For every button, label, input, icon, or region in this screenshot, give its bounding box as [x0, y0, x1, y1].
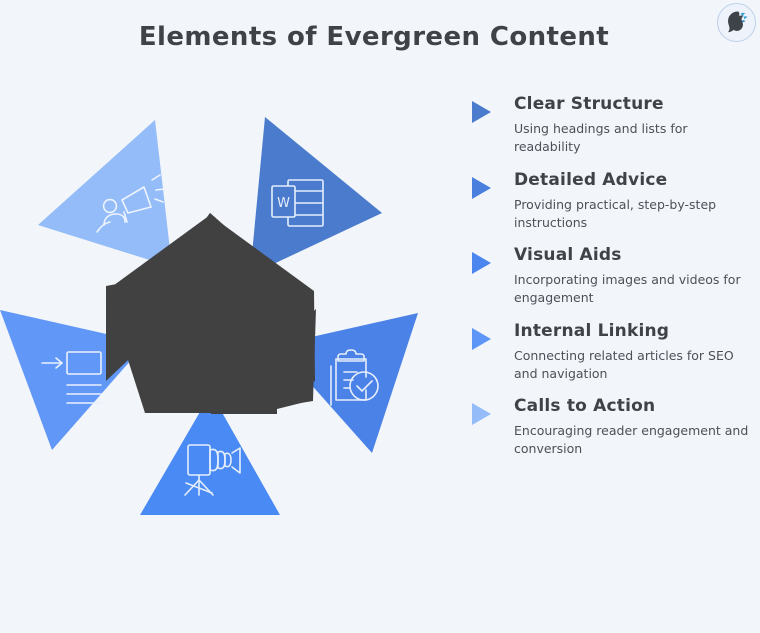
legend-item-clear-structure[interactable]: Clear Structure Using headings and lists… [470, 94, 755, 157]
legend-heading: Visual Aids [514, 245, 755, 266]
wedge-detailed-advice[interactable]: W [250, 117, 382, 275]
profile-silhouette-logo-icon [718, 4, 755, 41]
legend-description: Using headings and lists for readability [514, 120, 754, 156]
legend-description: Connecting related articles for SEO and … [514, 347, 754, 383]
page-title: Elements of Evergreen Content [0, 22, 748, 52]
legend-item-visual-aids[interactable]: Visual Aids Incorporating images and vid… [470, 245, 755, 308]
infographic-canvas: Elements of Evergreen Content [0, 0, 760, 633]
legend-description: Providing practical, step-by-step instru… [514, 196, 754, 232]
bullet-triangle-icon [472, 328, 491, 350]
legend-heading: Internal Linking [514, 321, 755, 342]
legend-item-detailed-advice[interactable]: Detailed Advice Providing practical, ste… [470, 170, 755, 233]
radial-diagram: W [0, 95, 450, 535]
bullet-triangle-icon [472, 101, 491, 123]
bullet-triangle-icon [472, 252, 491, 274]
legend-description: Incorporating images and videos for enga… [514, 271, 754, 307]
legend-item-calls-to-action[interactable]: Calls to Action Encouraging reader engag… [470, 396, 755, 459]
bullet-triangle-icon [472, 403, 491, 425]
legend-heading: Calls to Action [514, 396, 755, 417]
legend-heading: Clear Structure [514, 94, 755, 115]
svg-text:W: W [277, 196, 290, 211]
brand-logo-badge[interactable] [717, 3, 756, 42]
legend-list: Clear Structure Using headings and lists… [470, 94, 755, 472]
legend-description: Encouraging reader engagement and conver… [514, 422, 754, 458]
bullet-triangle-icon [472, 177, 491, 199]
legend-item-internal-linking[interactable]: Internal Linking Connecting related arti… [470, 321, 755, 384]
legend-heading: Detailed Advice [514, 170, 755, 191]
wedge-calls-to-action[interactable] [38, 120, 172, 267]
